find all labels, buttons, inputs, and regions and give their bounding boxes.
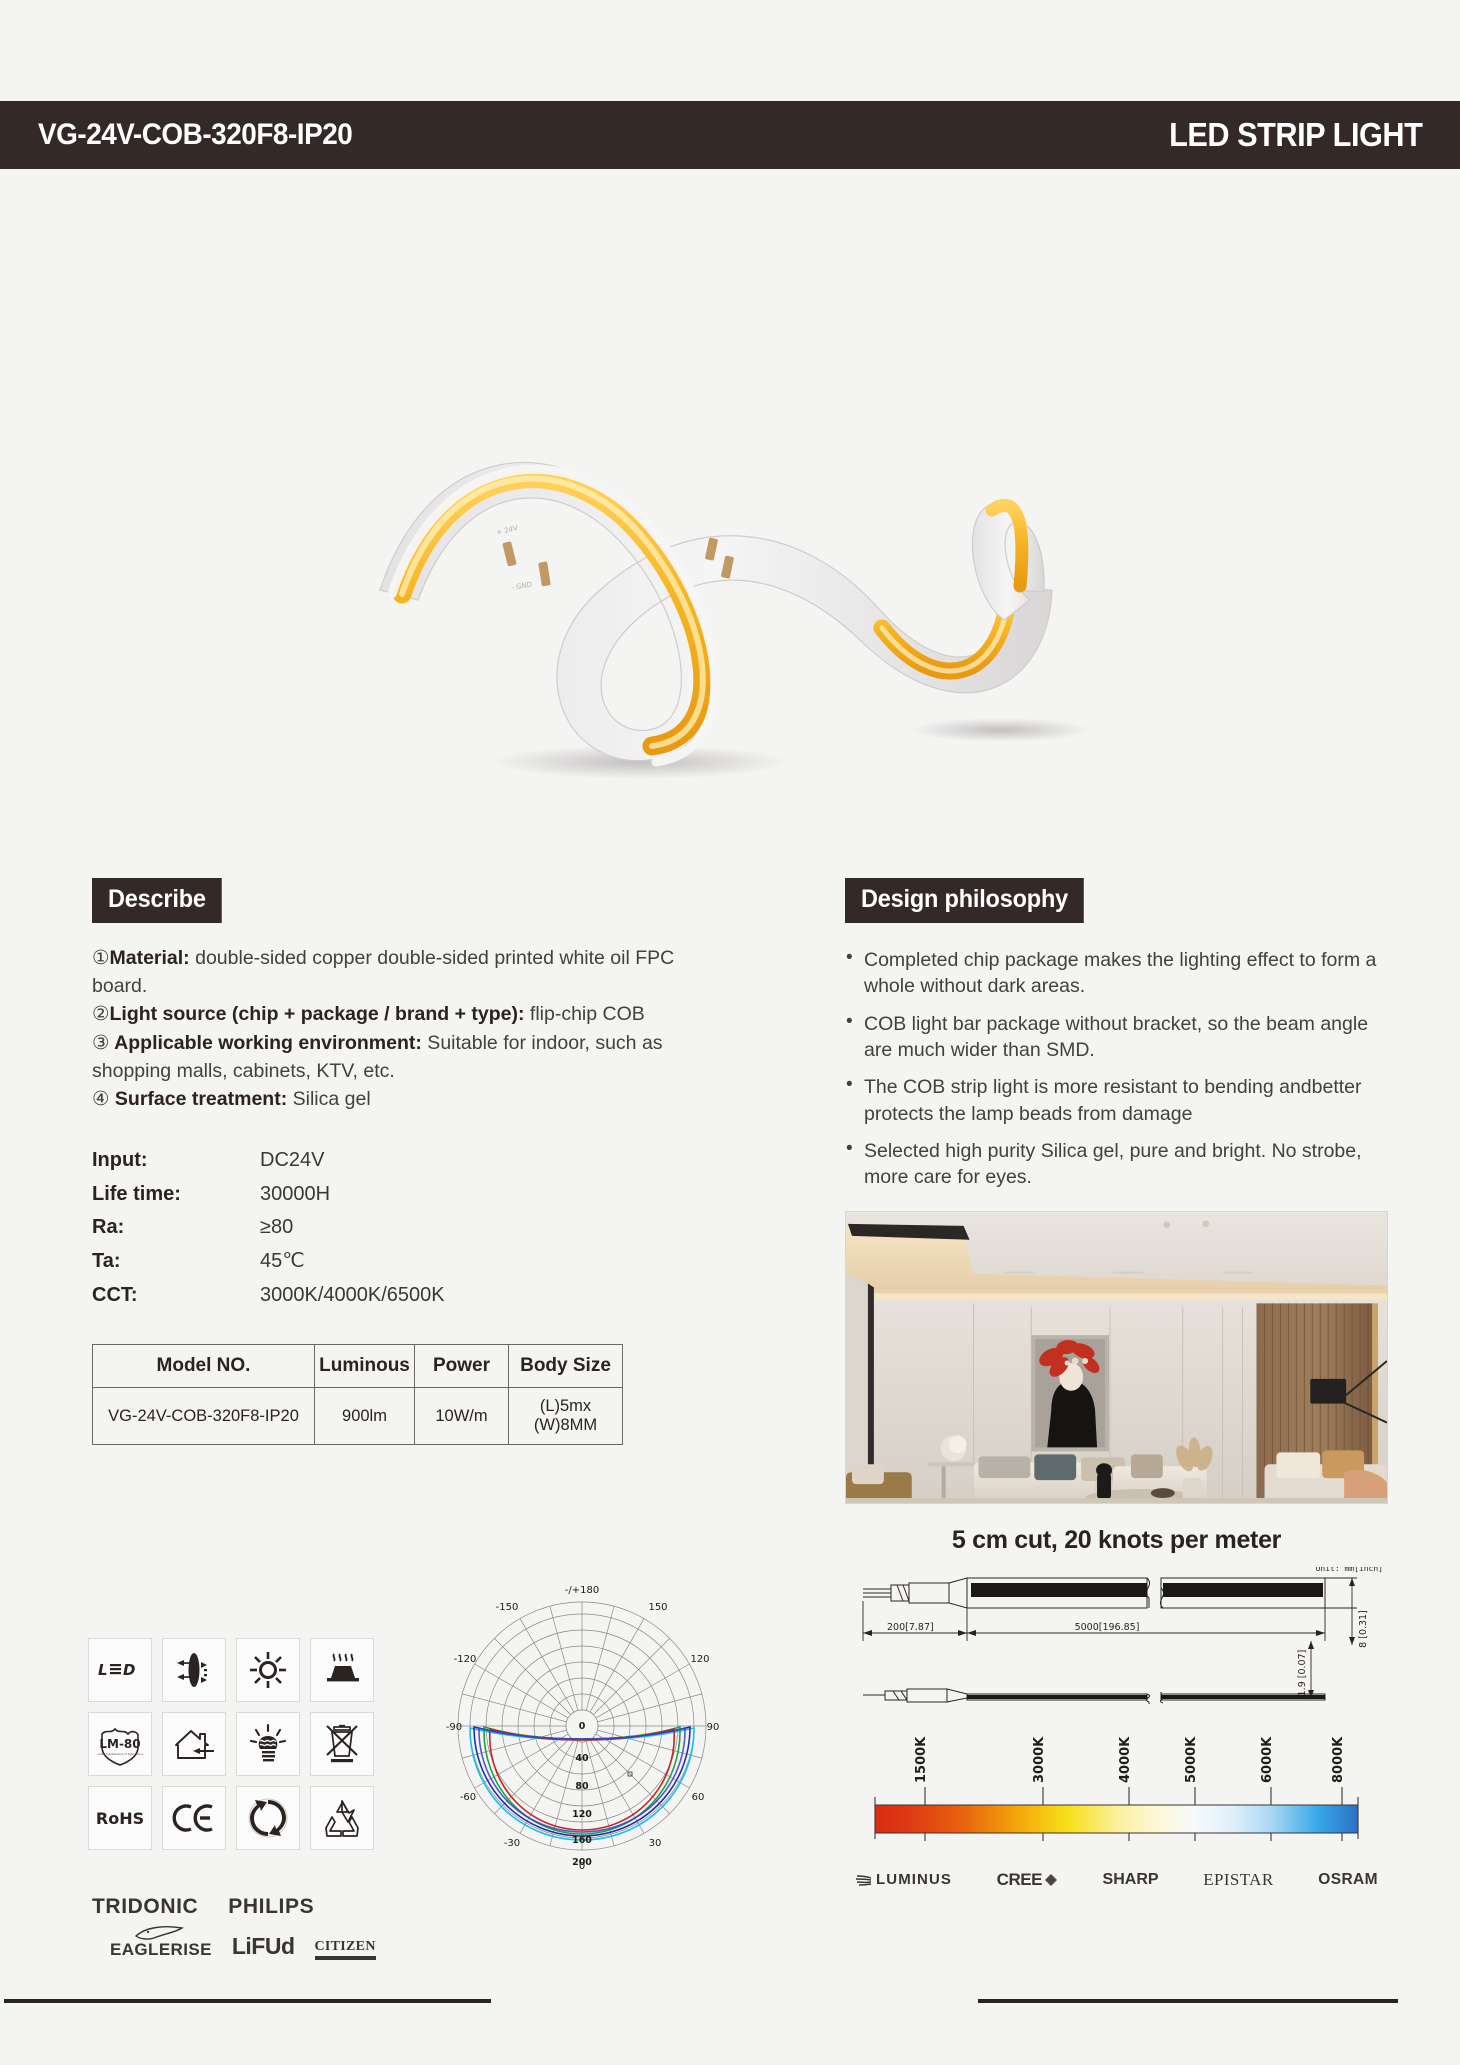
describe-item-3: ③ Applicable working environment: Suitab… [92, 1030, 712, 1085]
philosophy-item: Selected high purity Silica gel, pure an… [845, 1138, 1400, 1191]
specification-list: Input: DC24V Life time: 30000H Ra: ≥80 T… [92, 1144, 712, 1312]
spec-value: 45℃ [260, 1245, 305, 1279]
polar-light-distribution-chart: 0 40 80 120 160 200 -/+180 -150 150 -120… [432, 1578, 732, 1878]
brand-sharp: SHARP [1103, 1871, 1159, 1889]
design-philosophy-heading: Design philosophy [845, 878, 1084, 923]
led-logo-icon: L D [88, 1638, 152, 1702]
angle-label-150: 150 [648, 1602, 667, 1613]
dim-lead-length: 200[7.87] [887, 1622, 934, 1633]
philosophy-item: Completed chip package makes the lightin… [845, 947, 1400, 1000]
svg-text:D: D [123, 1661, 135, 1679]
radial-tick: 40 [575, 1753, 589, 1764]
brand-osram: OSRAM [1318, 1871, 1378, 1889]
cct-tick-label: 3000K [1032, 1735, 1047, 1782]
ce-mark-icon [162, 1786, 226, 1850]
cree-diamond-icon [1044, 1873, 1058, 1887]
spec-value: DC24V [260, 1144, 324, 1178]
certification-icon-grid: L D [88, 1638, 374, 1850]
radial-tick: 120 [572, 1809, 592, 1820]
citizen-underline [315, 1956, 376, 1960]
datasheet-page: VG-24V-COB-320F8-IP20 LED STRIP LIGHT [0, 0, 1460, 2065]
brand-name: LUMINUS [876, 1871, 952, 1888]
table-header-cell: Model NO. [93, 1345, 315, 1388]
design-philosophy-column: Design philosophy Completed chip package… [845, 878, 1400, 1897]
brand-tridonic: TRIDONIC [92, 1895, 198, 1919]
radial-tick: 80 [575, 1781, 589, 1792]
angle-label-60: 60 [692, 1792, 705, 1803]
describe-body: ①Material: double-sided copper double-si… [92, 945, 712, 1114]
footer-rule-right [978, 1999, 1398, 2003]
cct-tick-label: 6000K [1260, 1735, 1275, 1782]
table-header-cell: Body Size [509, 1345, 623, 1388]
angle-label-90: 90 [707, 1722, 720, 1733]
spec-key: Input: [92, 1144, 260, 1178]
spec-key: CCT: [92, 1279, 260, 1313]
describe-item-4: ④ Surface treatment: Silica gel [92, 1086, 712, 1114]
table-cell-model: VG-24V-COB-320F8-IP20 [93, 1388, 315, 1445]
luminus-mark-icon [855, 1873, 872, 1887]
bulb-glow-icon [236, 1712, 300, 1776]
application-interior-photo [845, 1211, 1388, 1504]
angle-label-neg90: -90 [446, 1722, 462, 1733]
lm80-badge-icon: LM-80 lumen maintenance of light source [88, 1712, 152, 1776]
angle-label-neg60: -60 [460, 1792, 476, 1803]
angle-label-neg150: -150 [496, 1602, 519, 1613]
footer-rule-left [4, 1999, 491, 2003]
angle-label-180: -/+180 [565, 1585, 599, 1596]
describe-item-1: ①Material: double-sided copper double-si… [92, 945, 712, 1000]
dim-unit-label: Unit: mm[inch] [1316, 1567, 1383, 1573]
driver-brand-row-2: EAGLERISE LiFUd CITIZEN [92, 1933, 512, 1960]
header-model-number: VG-24V-COB-320F8-IP20 [38, 118, 352, 152]
spec-value: 30000H [260, 1178, 330, 1212]
beam-lens-icon [162, 1638, 226, 1702]
describe-item-2: ②Light source (chip + package / brand + … [92, 1001, 712, 1029]
lm80-sublabel: lumen maintenance of light source [97, 1752, 143, 1756]
table-row: VG-24V-COB-320F8-IP20 900lm 10W/m (L)5mx… [93, 1388, 623, 1445]
angle-label-neg30: -30 [504, 1838, 520, 1849]
table-cell-luminous: 900lm [315, 1388, 415, 1445]
lm80-label: LM-80 [99, 1737, 140, 1751]
describe-column: Describe ①Material: double-sided copper … [92, 878, 712, 1445]
spec-row-ta: Ta: 45℃ [92, 1245, 712, 1279]
angle-label-0: 0 [579, 1861, 585, 1872]
sun-brightness-icon [236, 1638, 300, 1702]
cct-color-temperature-scale: 1500K 3000K 4000K 5000K 6000K 8000K [845, 1731, 1388, 1859]
table-header-cell: Luminous [315, 1345, 415, 1388]
radial-tick: 160 [572, 1835, 592, 1846]
cct-tick-label: 5000K [1184, 1735, 1199, 1782]
svg-text:L: L [98, 1661, 109, 1679]
table-cell-power: 10W/m [415, 1388, 509, 1445]
dim-thickness: 1.9 [0.07] [1297, 1649, 1308, 1696]
table-header-cell: Power [415, 1345, 509, 1388]
brand-citizen-wrap: CITIZEN [315, 1937, 376, 1960]
cut-interval-note: 5 cm cut, 20 knots per meter [845, 1526, 1388, 1555]
spec-row-cct: CCT: 3000K/4000K/6500K [92, 1279, 712, 1313]
no-bin-waste-icon [310, 1712, 374, 1776]
page-header: VG-24V-COB-320F8-IP20 LED STRIP LIGHT [0, 101, 1460, 169]
indoor-use-icon [162, 1712, 226, 1776]
brand-lifud: LiFUd [232, 1933, 295, 1960]
spec-key: Ra: [92, 1211, 260, 1245]
brand-eaglerise: EAGLERISE [110, 1940, 212, 1959]
philosophy-item: The COB strip light is more resistant to… [845, 1074, 1400, 1127]
spec-row-ra: Ra: ≥80 [92, 1211, 712, 1245]
describe-heading: Describe [92, 878, 222, 923]
brand-citizen: CITIZEN [315, 1939, 376, 1954]
dim-strip-length: 5000[196.85] [1075, 1622, 1140, 1633]
philosophy-item: COB light bar package without bracket, s… [845, 1011, 1400, 1064]
green-dot-recycle-icon [236, 1786, 300, 1850]
spec-row-input: Input: DC24V [92, 1144, 712, 1178]
recycle-triangle-icon [310, 1786, 374, 1850]
brand-eaglerise-wrap: EAGLERISE [110, 1940, 212, 1960]
table-cell-bodysize: (L)5mx (W)8MM [509, 1388, 623, 1445]
table-header-row: Model NO. Luminous Power Body Size [93, 1345, 623, 1388]
driver-brand-row-1: TRIDONIC PHILIPS [92, 1895, 512, 1919]
brand-name: CREE [997, 1870, 1042, 1890]
design-philosophy-list: Completed chip package makes the lightin… [845, 947, 1400, 1191]
cct-tick-label: 4000K [1118, 1735, 1133, 1782]
brand-cree: CREE [997, 1870, 1058, 1890]
dimension-drawing: 200[7.87] 5000[196.85] 8 [0.31] Unit: mm… [845, 1567, 1388, 1715]
rohs-label: RoHS [96, 1809, 144, 1828]
cct-tick-label: 1500K [914, 1735, 929, 1782]
brand-philips: PHILIPS [228, 1895, 314, 1919]
brand-epistar: EPISTAR [1203, 1870, 1273, 1890]
cct-tick-label: 8000K [1331, 1735, 1346, 1782]
heat-dissipation-icon [310, 1638, 374, 1702]
driver-brand-logos: TRIDONIC PHILIPS EAGLERISE LiFUd CITIZEN [92, 1895, 512, 1960]
radial-tick: 0 [579, 1721, 586, 1732]
product-hero-photo: + 24V - GND [0, 190, 1460, 800]
brand-luminus: LUMINUS [855, 1871, 952, 1888]
spec-key: Ta: [92, 1245, 260, 1279]
angle-label-neg120: -120 [454, 1654, 477, 1665]
spec-value: 3000K/4000K/6500K [260, 1279, 445, 1313]
header-product-title: LED STRIP LIGHT [1169, 116, 1422, 154]
angle-label-120: 120 [690, 1654, 709, 1665]
angle-label-30: 30 [649, 1838, 662, 1849]
chip-brand-logos: LUMINUS CREE SHARP EPISTAR OSRAM [845, 1863, 1388, 1897]
spec-row-lifetime: Life time: 30000H [92, 1178, 712, 1212]
dim-width: 8 [0.31] [1358, 1610, 1369, 1648]
rohs-icon: RoHS [88, 1786, 152, 1850]
eagle-mark-icon [134, 1925, 190, 1941]
model-specification-table: Model NO. Luminous Power Body Size VG-24… [92, 1344, 623, 1445]
spec-value: ≥80 [260, 1211, 293, 1245]
spec-key: Life time: [92, 1178, 260, 1212]
